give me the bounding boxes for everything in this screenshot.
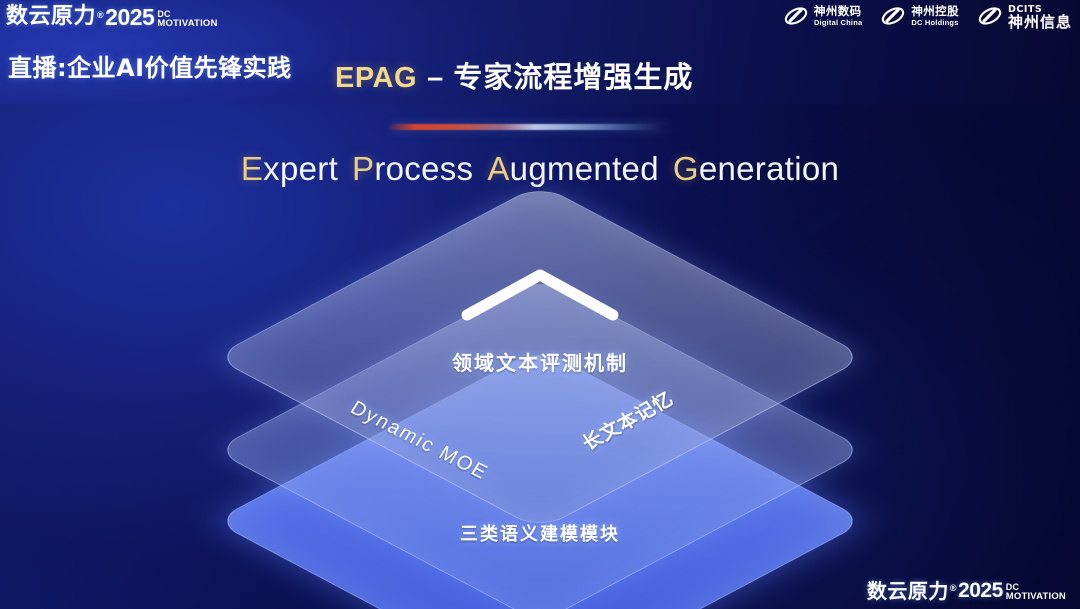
diagram-layer-top bbox=[309, 126, 771, 588]
partner-logo-dcits: DCITS 神州信息 bbox=[977, 3, 1072, 30]
brand-subline: DC MOTIVATION bbox=[157, 10, 217, 28]
live-session-label: 直播:企业AI价值先锋实践 bbox=[8, 48, 292, 83]
brand-year: 2025 bbox=[105, 6, 154, 28]
brand-logo: 数云原力 ® 2025 DC MOTIVATION bbox=[6, 2, 306, 32]
swoosh-icon bbox=[977, 4, 1003, 28]
partner-name-cn: 神州数码 bbox=[814, 6, 862, 18]
footer-registered-mark: ® bbox=[950, 584, 957, 593]
partner-logo-digital-china: 神州数码 Digital China bbox=[783, 4, 862, 28]
page-title: EPAG – 专家流程增强生成 bbox=[335, 54, 693, 96]
footer-brand-subline-2: MOTIVATION bbox=[1006, 592, 1066, 601]
footer-brand-year: 2025 bbox=[958, 581, 1003, 601]
swoosh-icon bbox=[880, 4, 906, 28]
diagram-layer-top-plate bbox=[213, 184, 866, 530]
footer-brand-wordmark: 数云原力 ® 2025 DC MOTIVATION bbox=[867, 581, 1066, 601]
slide-canvas: 数云原力 ® 2025 DC MOTIVATION 直播:企业AI价值先锋实践 bbox=[0, 0, 1080, 609]
title-acronym: EPAG bbox=[335, 62, 417, 94]
brand-wordmark: 数云原力 ® 2025 DC MOTIVATION bbox=[6, 6, 218, 28]
partner-name-en: DC Holdings bbox=[911, 19, 959, 27]
partner-logos: 神州数码 Digital China 神州控股 DC Holdings bbox=[783, 3, 1072, 30]
partner-logo-text: 神州数码 Digital China bbox=[814, 6, 862, 27]
partner-logo-text: 神州控股 DC Holdings bbox=[911, 6, 959, 27]
partner-name-cn: 神州信息 bbox=[1008, 15, 1072, 30]
brand-name-cn: 数云原力 bbox=[6, 6, 96, 28]
layered-architecture-diagram: 领域文本评测机制 Dynamic MOE 长文本记忆 三类语义建模模块 bbox=[0, 218, 1080, 558]
footer-brand-logo: 数云原力 ® 2025 DC MOTIVATION bbox=[867, 581, 1066, 601]
partner-logo-dc-holdings: 神州控股 DC Holdings bbox=[880, 4, 959, 28]
registered-mark: ® bbox=[97, 11, 104, 20]
brand-subline-2: MOTIVATION bbox=[157, 19, 217, 28]
partner-name-en: Digital China bbox=[814, 19, 862, 27]
subtitle-word-cap: E bbox=[241, 150, 263, 187]
title-dash: – bbox=[427, 62, 443, 94]
partner-logo-text: DCITS 神州信息 bbox=[1008, 3, 1072, 30]
swoosh-icon bbox=[783, 4, 809, 28]
title-chinese: 专家流程增强生成 bbox=[453, 60, 693, 94]
partner-name-cn: 神州控股 bbox=[911, 6, 959, 18]
footer-brand-name-cn: 数云原力 bbox=[867, 581, 949, 601]
footer-brand-subline: DC MOTIVATION bbox=[1006, 583, 1066, 601]
